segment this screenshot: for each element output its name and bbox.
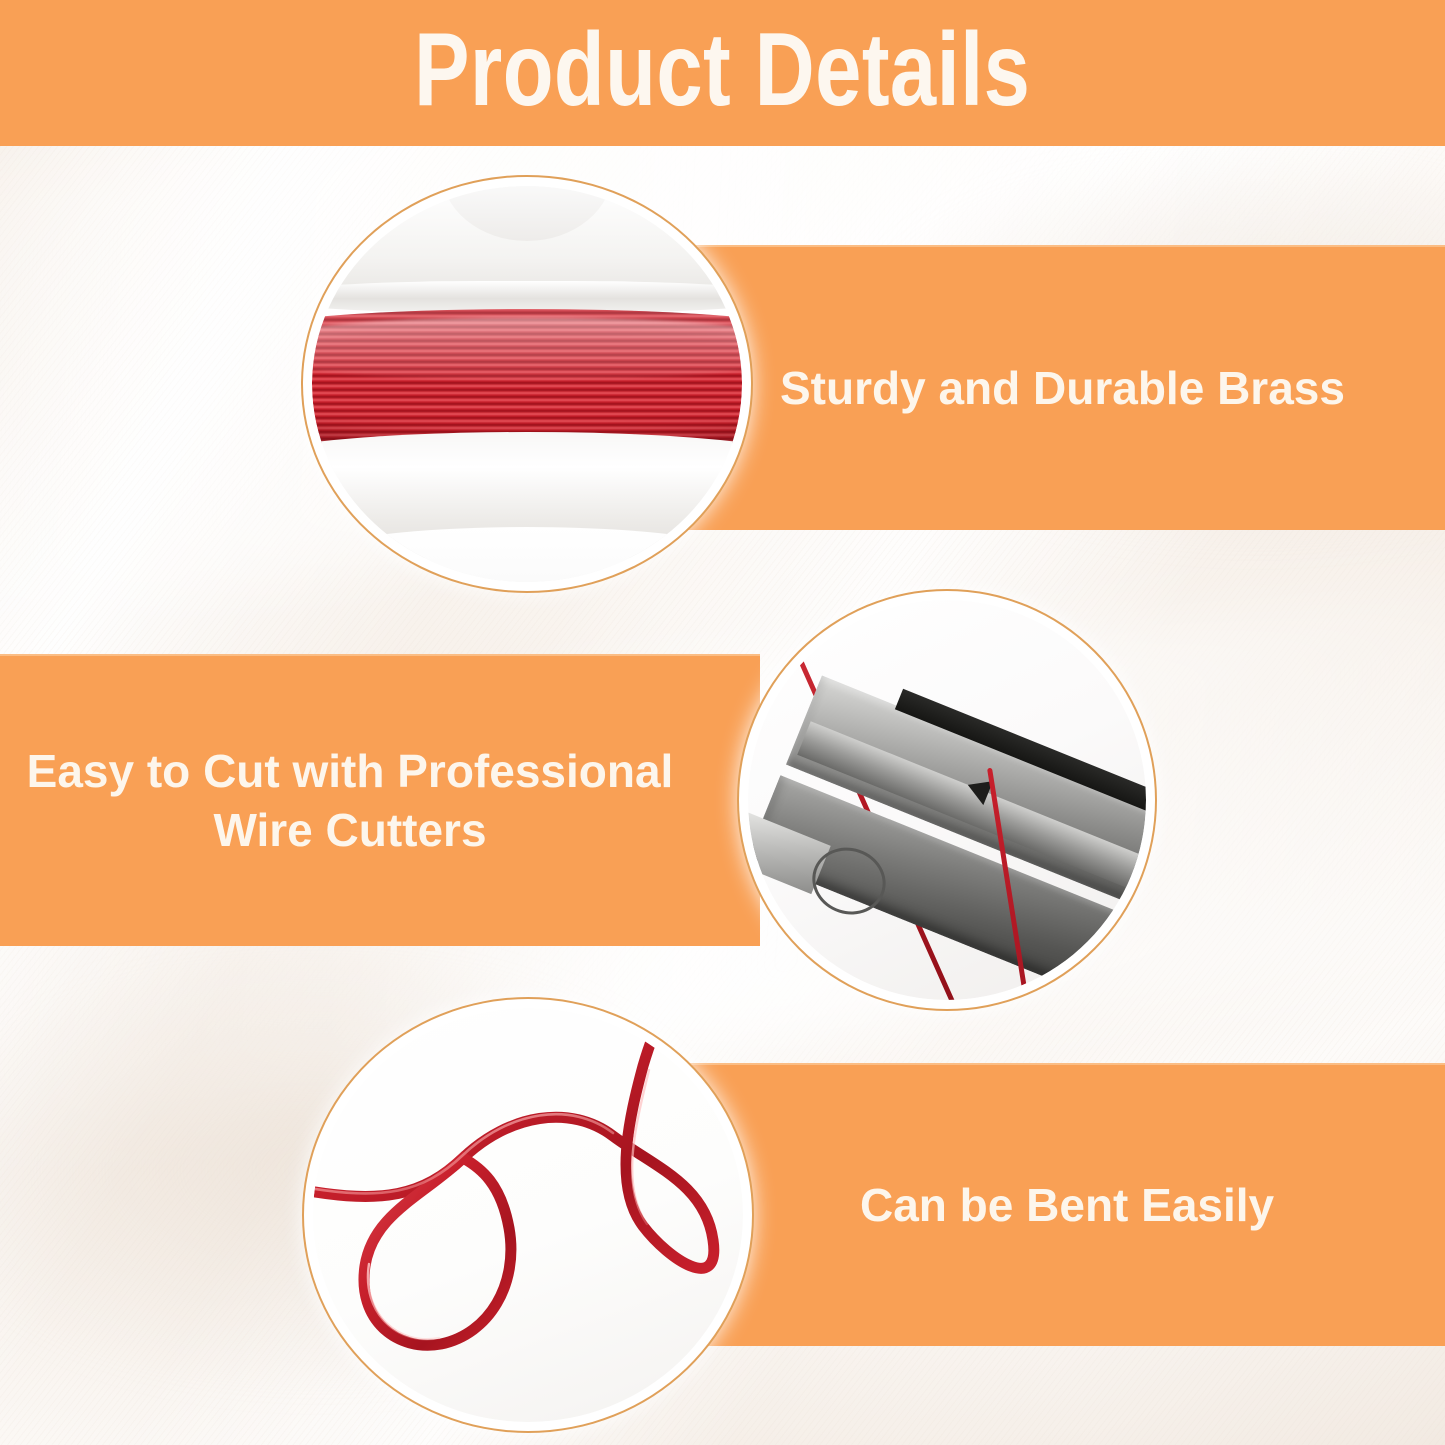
feature-image-bent-wire — [313, 1008, 743, 1422]
feature-label-easy-to-cut: Easy to Cut with Professional Wire Cutte… — [20, 742, 680, 860]
spool-upper-lip — [312, 281, 742, 313]
bent-red-wire-loops-photo — [313, 1008, 743, 1422]
red-wire-spool-photo — [312, 186, 742, 582]
wire-cutter-pliers-photo — [748, 600, 1146, 1000]
feature-image-red-wire-spool — [312, 186, 742, 582]
bent-wire-path — [313, 1008, 743, 1422]
product-details-infographic: Product Details Sturdy and Durable Brass… — [0, 0, 1445, 1445]
feature-label-can-be-bent-easily: Can be Bent Easily — [860, 1176, 1274, 1235]
feature-image-wire-cutter — [748, 600, 1146, 1000]
header-banner: Product Details — [0, 0, 1445, 146]
spool-base — [312, 527, 742, 582]
feature-band-easy-to-cut: Easy to Cut with Professional Wire Cutte… — [0, 654, 760, 946]
page-title: Product Details — [414, 18, 1030, 122]
feature-label-sturdy-durable-brass: Sturdy and Durable Brass — [780, 359, 1345, 418]
wire-highlight-sheen — [312, 317, 742, 380]
